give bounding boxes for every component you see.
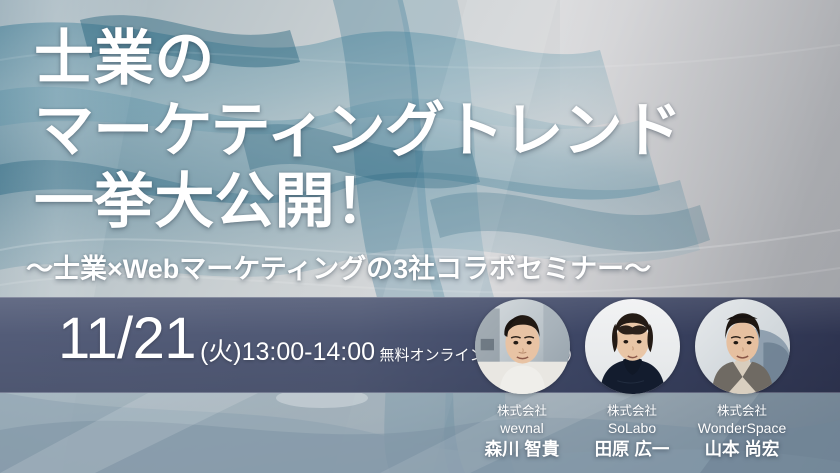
speaker-company-name: wevnal <box>463 419 581 437</box>
speaker-card: 株式会社 wevnal 森川 智貴 <box>472 299 572 473</box>
speaker-portrait-tahara <box>585 299 680 394</box>
event-date: 11/21 <box>58 308 196 370</box>
speaker-company-prefix: 株式会社 <box>683 403 801 419</box>
speaker-info: 株式会社 wevnal 森川 智貴 <box>463 403 581 461</box>
subtitle: 〜士業×Webマーケティングの3社コラボセミナー〜 <box>26 252 826 286</box>
page-title: 士業の マーケティングトレンド 一挙大公開！ <box>34 22 824 238</box>
title-line-2: マーケティングトレンド <box>34 96 824 166</box>
speaker-name: 田原 広一 <box>573 438 691 461</box>
speaker-card: 株式会社 WonderSpace 山本 尚宏 <box>692 299 792 473</box>
speaker-company-name: WonderSpace <box>683 419 801 437</box>
speaker-list: 株式会社 wevnal 森川 智貴 <box>472 299 792 473</box>
speaker-portrait-morikawa <box>475 299 570 394</box>
speaker-card: 株式会社 SoLabo 田原 広一 <box>582 299 682 473</box>
title-line-1: 士業の <box>34 22 824 96</box>
speaker-company-prefix: 株式会社 <box>573 403 691 419</box>
speaker-company-prefix: 株式会社 <box>463 403 581 419</box>
speaker-info: 株式会社 SoLabo 田原 広一 <box>573 403 691 461</box>
title-line-3: 一挙大公開！ <box>34 166 824 238</box>
event-time: (火)13:00-14:00 <box>200 338 375 366</box>
speaker-portrait-yamamoto <box>695 299 790 394</box>
speaker-company-name: SoLabo <box>573 419 691 437</box>
speaker-name: 森川 智貴 <box>463 438 581 461</box>
speaker-name: 山本 尚宏 <box>683 438 801 461</box>
speaker-info: 株式会社 WonderSpace 山本 尚宏 <box>683 403 801 461</box>
seminar-banner: 士業の マーケティングトレンド 一挙大公開！ 〜士業×Webマーケティングの3社… <box>0 0 840 473</box>
